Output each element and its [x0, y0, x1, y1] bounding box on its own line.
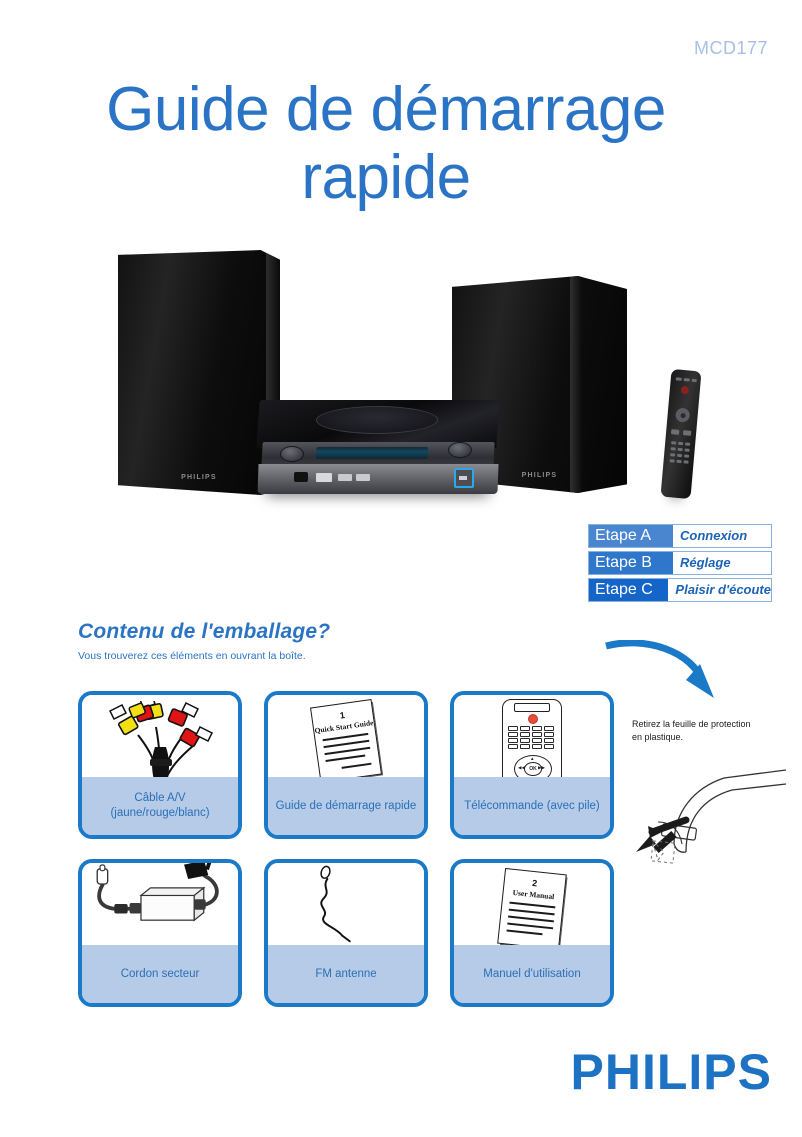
item-label-fm-antenna: FM antenne — [268, 945, 424, 1003]
item-label-power-cord: Cordon secteur — [82, 945, 238, 1003]
user-manual-icon: 2 User Manual — [454, 863, 610, 945]
micro-system-main-unit — [258, 400, 498, 500]
fm-antenna-icon — [268, 863, 424, 945]
item-label-remote-control: Télécommande (avec pile) — [454, 777, 610, 835]
contents-heading: Contenu de l'emballage? — [78, 620, 330, 644]
item-label-line1: Câble A/V — [110, 791, 209, 806]
item-label-av-cable: Câble A/V (jaune/rouge/blanc) — [82, 777, 238, 835]
unit-knob-right — [448, 442, 472, 458]
remote-body: ▲ OK ◀◀ ▶▶ — [502, 699, 562, 777]
philips-logo: PHILIPS — [571, 1043, 772, 1101]
item-label-line2: (jaune/rouge/blanc) — [110, 806, 209, 821]
page-title-line2: rapide — [0, 144, 772, 212]
av-cable-icon — [82, 695, 238, 777]
document-sheet: 1 Quick Start Guide — [310, 699, 382, 777]
speaker-brand-label: PHILIPS — [118, 474, 280, 481]
step-b-label: Etape B — [589, 552, 673, 574]
item-card-remote-control: ▲ OK ◀◀ ▶▶ Télécommande (avec pile) — [450, 691, 614, 839]
package-contents-grid: Câble A/V (jaune/rouge/blanc) 1 Quick St… — [78, 691, 614, 1007]
peel-film-illustration — [628, 760, 788, 868]
left-speaker: PHILIPS — [118, 250, 280, 495]
item-label-quick-start-guide: Guide de démarrage rapide — [268, 777, 424, 835]
contents-subheading: Vous trouverez ces éléments en ouvrant l… — [78, 650, 306, 662]
item-card-av-cable: Câble A/V (jaune/rouge/blanc) — [78, 691, 242, 839]
item-label-line1: Cordon secteur — [121, 967, 200, 982]
remote-control-icon: ▲ OK ◀◀ ▶▶ — [454, 695, 610, 777]
item-card-fm-antenna: FM antenne — [264, 859, 428, 1007]
peel-note-line1: Retirez la feuille de protection — [632, 718, 784, 731]
ir-window-icon — [294, 472, 308, 482]
steps-legend: Etape A Connexion Etape B Réglage Etape … — [588, 524, 772, 605]
step-c-value: Plaisir d'écoute — [668, 579, 771, 601]
usb-port-icon — [454, 468, 474, 488]
unit-knob-left — [280, 446, 304, 462]
quick-start-guide-page: MCD177 Guide de démarrage rapide PHILIPS… — [0, 0, 802, 1137]
step-a-value: Connexion — [673, 525, 771, 547]
step-b-value: Réglage — [673, 552, 771, 574]
item-card-user-manual: 2 User Manual Manuel d'utilisation — [450, 859, 614, 1007]
divx-logo-icon — [338, 474, 352, 481]
item-label-user-manual: Manuel d'utilisation — [454, 945, 610, 1003]
item-card-quick-start-guide: 1 Quick Start Guide Guide de démarrage r… — [264, 691, 428, 839]
step-a-label: Etape A — [589, 525, 673, 547]
peel-note-line2: en plastique. — [632, 731, 784, 744]
unit-display — [316, 447, 429, 459]
item-label-line1: Guide de démarrage rapide — [276, 799, 417, 814]
step-a-row: Etape A Connexion — [588, 524, 772, 548]
product-hero-image: PHILIPS PHILIPS — [100, 240, 730, 510]
dvd-logo-icon — [316, 473, 332, 482]
curved-arrow-icon — [604, 640, 714, 710]
model-number: MCD177 — [694, 38, 768, 59]
format-logo-icon — [356, 474, 370, 481]
item-label-line1: Manuel d'utilisation — [483, 967, 580, 982]
step-b-row: Etape B Réglage — [588, 551, 772, 575]
hero-remote-control — [660, 369, 701, 499]
step-c-row: Etape C Plaisir d'écoute — [588, 578, 772, 602]
page-title-line1: Guide de démarrage — [106, 75, 666, 144]
power-button-icon — [528, 714, 538, 724]
speaker-edge — [570, 276, 582, 493]
peel-instruction-text: Retirez la feuille de protection en plas… — [632, 718, 784, 743]
item-card-power-cord: Cordon secteur — [78, 859, 242, 1007]
document-sheet: 2 User Manual — [497, 868, 567, 945]
remote-top-bar — [514, 703, 550, 712]
item-label-line1: Télécommande (avec pile) — [464, 799, 600, 814]
power-adapter-icon — [82, 863, 238, 945]
page-title: Guide de démarrage rapide — [0, 76, 802, 212]
quick-start-guide-icon: 1 Quick Start Guide — [268, 695, 424, 777]
step-c-label: Etape C — [589, 579, 668, 601]
item-label-line1: FM antenne — [315, 967, 376, 982]
